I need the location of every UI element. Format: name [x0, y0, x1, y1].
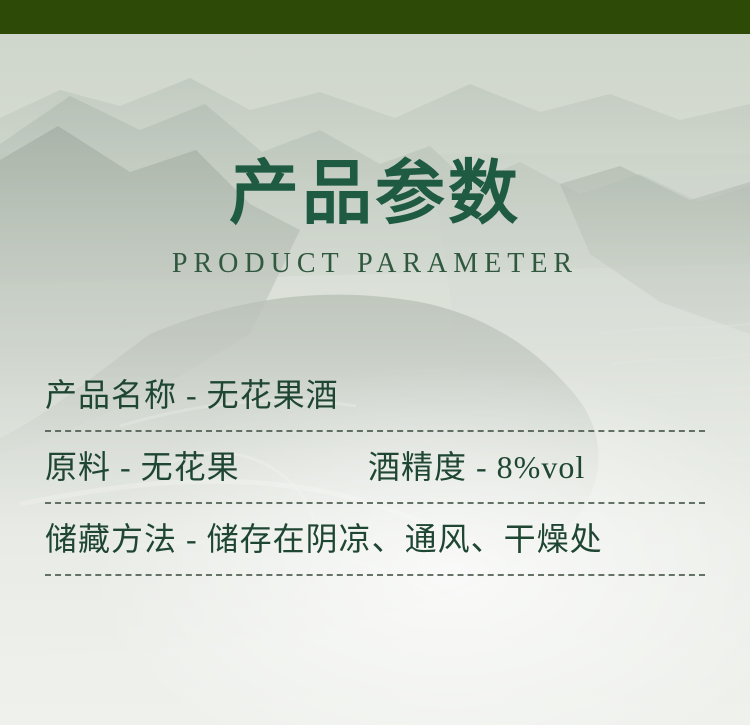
spec-text-material: 原料 - 无花果: [45, 447, 368, 487]
product-parameter-banner: 产品参数 PRODUCT PARAMETER 产品名称 - 无花果酒 原料 - …: [0, 0, 750, 725]
spec-list: 产品名称 - 无花果酒 原料 - 无花果 酒精度 - 8%vol 储藏方法 - …: [45, 360, 705, 576]
spec-divider-2: [45, 502, 705, 504]
spec-text-product-name: 产品名称 - 无花果酒: [45, 375, 339, 415]
spec-divider-1: [45, 430, 705, 432]
spec-row-material-alcohol: 原料 - 无花果 酒精度 - 8%vol: [45, 432, 705, 502]
spec-row-storage: 储藏方法 - 储存在阴凉、通风、干燥处: [45, 504, 705, 574]
page-title: 产品参数: [0, 154, 750, 236]
top-accent-bar: [0, 0, 750, 34]
heading-block: 产品参数 PRODUCT PARAMETER: [0, 154, 750, 280]
spec-row-product-name: 产品名称 - 无花果酒: [45, 360, 705, 430]
spec-text-alcohol-content: 酒精度 - 8%vol: [368, 447, 585, 487]
spec-text-storage: 储藏方法 - 储存在阴凉、通风、干燥处: [45, 519, 603, 559]
page-subtitle: PRODUCT PARAMETER: [0, 248, 750, 280]
spec-divider-3: [45, 574, 705, 576]
